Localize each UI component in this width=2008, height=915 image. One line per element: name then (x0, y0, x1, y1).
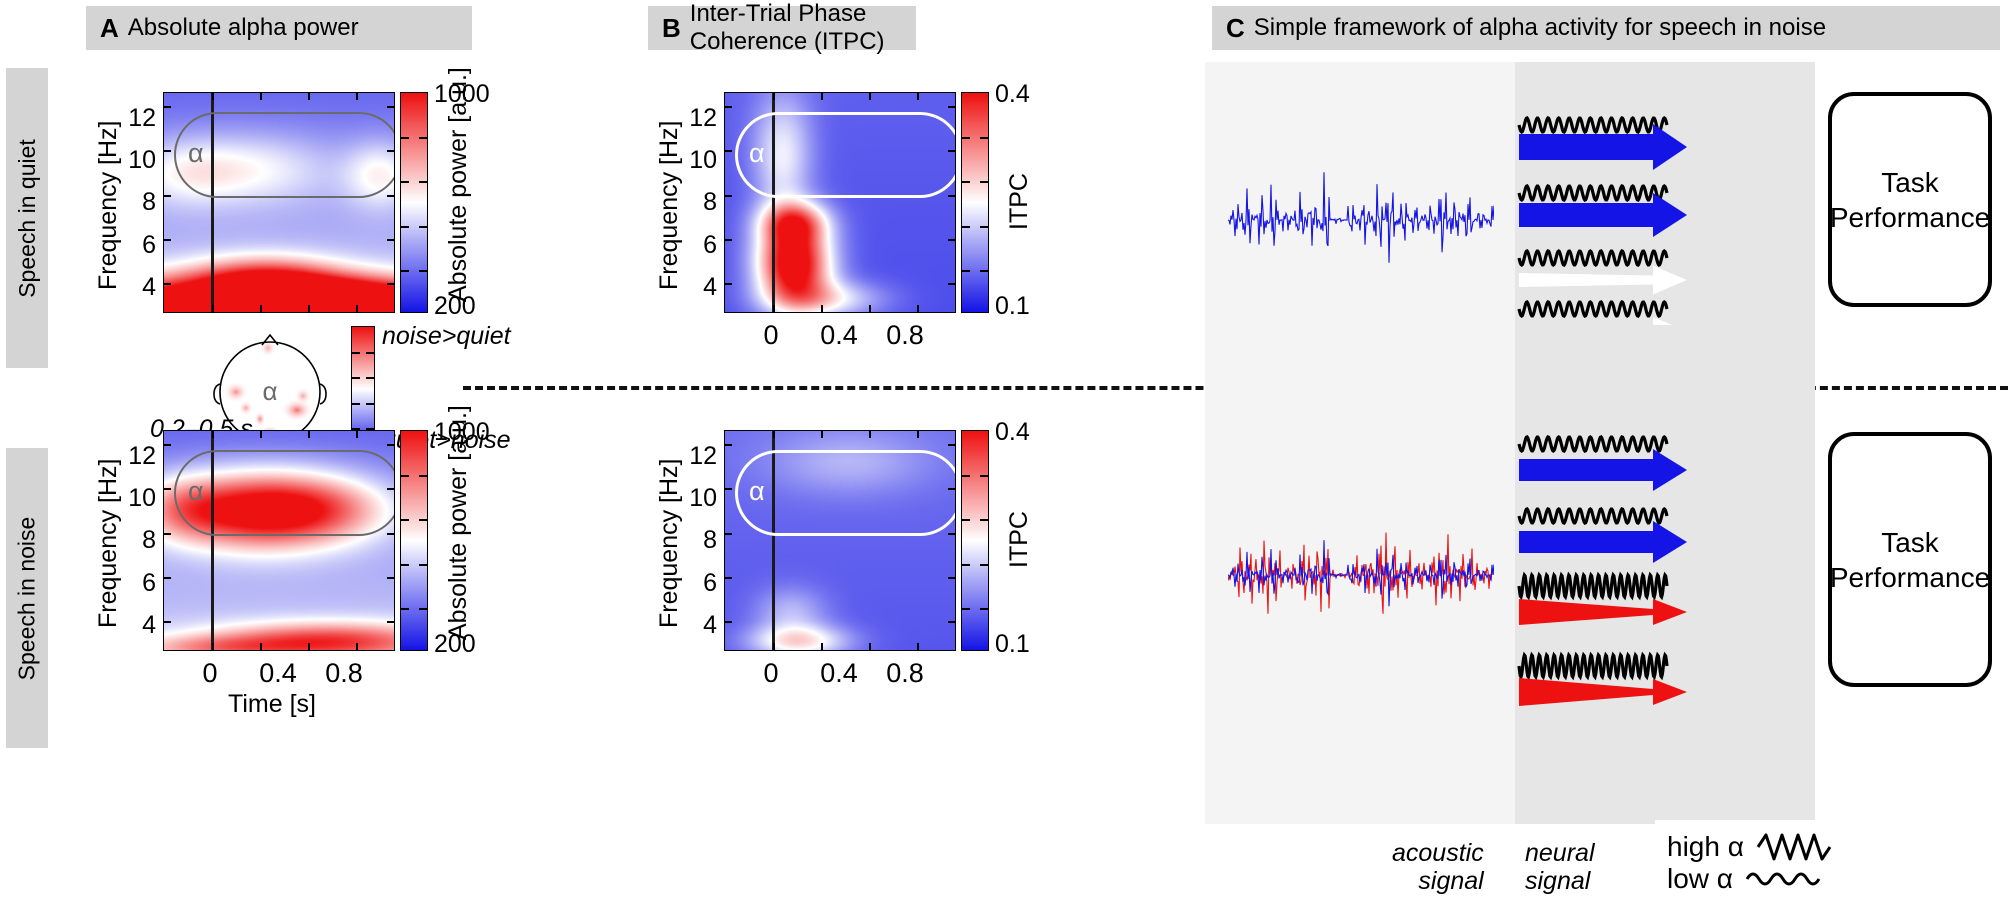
y-tickmark (164, 239, 171, 241)
colorbar-power-noise-title: Absolute power [a.u.] (444, 405, 473, 640)
colorbar-tickmark (962, 226, 970, 228)
y-tickmark (725, 106, 732, 108)
ylabel-a-quiet: Frequency [Hz] (94, 120, 123, 290)
task-performance-box-noise: Task Performance (1828, 432, 1992, 687)
y-tickmark (387, 239, 394, 241)
y-tickmark (948, 577, 955, 579)
colorbar-itpc-quiet (961, 92, 989, 313)
x-tickmark (821, 431, 823, 438)
panel-letter-c: C (1226, 13, 1245, 44)
colorbar-itpc-noise (961, 430, 989, 651)
y-tickmark (387, 106, 394, 108)
xlabel-a-noise: Time [s] (228, 690, 316, 719)
colorbar-tickmark (962, 519, 970, 521)
x-tickmark (773, 431, 775, 438)
xtick-b-quiet-0.8: 0.8 (875, 320, 935, 351)
x-tickmark (773, 305, 775, 312)
colorbar-tickmark (401, 608, 409, 610)
y-tickmark (387, 195, 394, 197)
ylabel-b-quiet: Frequency [Hz] (655, 120, 684, 290)
y-tickmark (164, 195, 171, 197)
panel-header-b: B Inter-Trial Phase Coherence (ITPC) (648, 6, 916, 50)
x-tickmark (212, 93, 214, 100)
colorbar-tickmark (352, 403, 360, 405)
colorbar-tickmark (401, 137, 409, 139)
colorbar-tickmark (980, 137, 988, 139)
x-tickmark (260, 93, 262, 100)
colorbar-tickmark (980, 519, 988, 521)
heatmap-b-noise-canvas (725, 431, 955, 650)
y-tickmark (164, 106, 171, 108)
colorbar-itpc-quiet-canvas (962, 93, 988, 312)
y-tickmark (164, 621, 171, 623)
y-tickmark (948, 239, 955, 241)
colorbar-tickmark (962, 181, 970, 183)
x-tickmark (308, 93, 310, 100)
x-tickmark (212, 305, 214, 312)
x-tickmark (917, 431, 919, 438)
blue-arrow-strong (1519, 449, 1687, 491)
stimulus-onset-line (772, 93, 775, 312)
x-tickmark (260, 431, 262, 438)
colorbar-tickmark (980, 270, 988, 272)
white-arrow-weak (1519, 317, 1687, 325)
low-alpha-wave-icon (1745, 864, 1821, 894)
stimulus-onset-line (211, 93, 214, 312)
red-arrow-tapered (1519, 599, 1687, 625)
x-tickmark (308, 305, 310, 312)
y-tickmark (725, 577, 732, 579)
task-performance-label-quiet: Task Performance (1830, 165, 1990, 235)
task-performance-box-quiet: Task Performance (1828, 92, 1992, 307)
colorbar-power-quiet-canvas (401, 93, 427, 312)
colorbar-tickmark (980, 564, 988, 566)
y-tickmark (725, 283, 732, 285)
colorbar-tickmark (962, 270, 970, 272)
x-tickmark (308, 643, 310, 650)
colorbar-itpc-quiet-title: ITPC (1005, 173, 1034, 230)
colorbar-tickmark (352, 352, 360, 354)
alpha-squiggle (1519, 655, 1667, 677)
footer-neural-signal: neural signal (1525, 840, 1595, 895)
xtick-b-noise-0.4: 0.4 (809, 658, 869, 689)
row-label-speech-in-noise: Speech in noise (6, 448, 48, 748)
xtick-a-noise-0: 0 (190, 658, 230, 689)
y-tickmark (725, 621, 732, 623)
row-label-speech-in-quiet: Speech in quiet (6, 68, 48, 368)
y-tickmark (725, 488, 732, 490)
colorbar-tickmark (962, 564, 970, 566)
alpha-squiggle (1519, 437, 1667, 451)
legend-row-low-alpha: low α (1667, 863, 1833, 895)
y-tickmark (164, 533, 171, 535)
high-alpha-wave-icon (1756, 832, 1832, 862)
x-tickmark (917, 643, 919, 650)
y-tickmark (948, 488, 955, 490)
x-tickmark (356, 93, 358, 100)
x-tickmark (356, 643, 358, 650)
colorbar-tickmark (366, 377, 374, 379)
y-tickmark (948, 106, 955, 108)
colorbar-tickmark (962, 475, 970, 477)
colorbar-tickmark (980, 608, 988, 610)
colorbar-tickmark (419, 519, 427, 521)
neural-arrows-quiet (1515, 95, 1815, 325)
panel-letter-b: B (662, 13, 681, 44)
panel-title-c: Simple framework of alpha activity for s… (1254, 14, 1826, 42)
xtick-b-noise-0: 0 (751, 658, 791, 689)
colorbar-tickmark (419, 475, 427, 477)
colorbar-power-noise (400, 430, 428, 651)
colorbar-tickmark (352, 377, 360, 379)
y-tickmark (164, 283, 171, 285)
x-tickmark (212, 643, 214, 650)
x-tickmark (821, 93, 823, 100)
colorbar-tickmark (419, 181, 427, 183)
neural-arrows-noise (1515, 430, 1815, 840)
y-tickmark (387, 150, 394, 152)
colorbar-itpc-noise-title: ITPC (1005, 511, 1034, 568)
colorbar-power-quiet-title: Absolute power [a.u.] (444, 67, 473, 302)
x-tickmark (917, 305, 919, 312)
y-tickmark (164, 444, 171, 446)
y-tickmark (725, 239, 732, 241)
panel-title-b: Inter-Trial Phase Coherence (ITPC) (690, 0, 916, 56)
colorbar-tickmark (401, 519, 409, 521)
y-tickmark (948, 150, 955, 152)
y-tickmark (164, 577, 171, 579)
alpha-squiggle (1519, 509, 1667, 523)
colorbar-itpc-quiet-max: 0.4 (995, 80, 1030, 109)
colorbar-tickmark (962, 137, 970, 139)
colorbar-tickmark (419, 137, 427, 139)
colorbar-tickmark (962, 608, 970, 610)
heatmap-b-quiet-canvas (725, 93, 955, 312)
ylabel-a-noise: Frequency [Hz] (94, 458, 123, 628)
heatmap-b-noise: α (724, 430, 956, 651)
alpha-symbol: α (188, 478, 204, 505)
y-tickmark (387, 533, 394, 535)
y-tickmark (725, 533, 732, 535)
colorbar-tickmark (980, 475, 988, 477)
panel-header-a: A Absolute alpha power (86, 6, 472, 50)
y-tickmark (725, 195, 732, 197)
colorbar-tickmark (419, 608, 427, 610)
colorbar-power-noise-canvas (401, 431, 427, 650)
colorbar-itpc-noise-canvas (962, 431, 988, 650)
panel-letter-a: A (100, 13, 119, 44)
y-tickmark (387, 283, 394, 285)
x-tickmark (821, 643, 823, 650)
x-tickmark (869, 93, 871, 100)
xtick-b-quiet-0: 0 (751, 320, 791, 351)
speech-trace (1228, 172, 1494, 262)
heatmap-a-noise: α (163, 430, 395, 651)
x-tickmark (773, 93, 775, 100)
alpha-squiggle (1519, 118, 1667, 132)
colorbar-tickmark (401, 270, 409, 272)
xtick-a-noise-0.4: 0.4 (248, 658, 308, 689)
footer-acoustic-signal: acoustic signal (1392, 840, 1484, 895)
colorbar-itpc-noise-max: 0.4 (995, 418, 1030, 447)
colorbar-tickmark (366, 352, 374, 354)
colorbar-tickmark (401, 564, 409, 566)
alpha-symbol: α (749, 140, 765, 167)
row-label-noise-text: Speech in noise (14, 516, 41, 680)
x-tickmark (212, 431, 214, 438)
heatmap-a-noise-canvas (164, 431, 394, 650)
stimulus-onset-line (211, 431, 214, 650)
x-tickmark (869, 643, 871, 650)
y-tickmark (164, 488, 171, 490)
y-tickmark (387, 444, 394, 446)
x-tickmark (773, 643, 775, 650)
panel-title-a: Absolute alpha power (128, 14, 359, 42)
colorbar-tickmark (401, 181, 409, 183)
heatmap-a-quiet: α (163, 92, 395, 313)
acoustic-waveform-quiet (1228, 160, 1494, 280)
colorbar-itpc-quiet-min: 0.1 (995, 292, 1030, 321)
x-tickmark (308, 431, 310, 438)
red-arrow-tapered (1519, 678, 1687, 706)
colorbar-power-quiet (400, 92, 428, 313)
stimulus-onset-line (772, 431, 775, 650)
y-tickmark (725, 150, 732, 152)
acoustic-waveform-noise (1228, 510, 1494, 640)
heatmap-a-quiet-canvas (164, 93, 394, 312)
y-tickmark (725, 444, 732, 446)
white-arrow-weak (1519, 266, 1687, 295)
x-tickmark (356, 305, 358, 312)
x-tickmark (260, 305, 262, 312)
x-tickmark (260, 643, 262, 650)
x-tickmark (917, 93, 919, 100)
colorbar-tickmark (401, 226, 409, 228)
y-tickmark (948, 444, 955, 446)
alpha-squiggle (1519, 302, 1667, 316)
ylabel-b-noise: Frequency [Hz] (655, 458, 684, 628)
colorbar-tickmark (980, 226, 988, 228)
colorbar-tickmark (419, 564, 427, 566)
y-tickmark (387, 577, 394, 579)
y-tickmark (948, 621, 955, 623)
legend-row-high-alpha: high α (1667, 831, 1833, 863)
xtick-b-noise-0.8: 0.8 (875, 658, 935, 689)
x-tickmark (821, 305, 823, 312)
blue-arrow-strong (1519, 521, 1687, 563)
heatmap-b-quiet: α (724, 92, 956, 313)
colorbar-tickmark (419, 226, 427, 228)
y-tickmark (948, 533, 955, 535)
y-tickmark (948, 195, 955, 197)
alpha-legend-box: high α low α (1655, 820, 1845, 906)
panel-header-c: C Simple framework of alpha activity for… (1212, 6, 2000, 50)
svg-text:α: α (262, 376, 277, 406)
alpha-symbol: α (188, 140, 204, 167)
colorbar-topo-max: noise>quiet (382, 322, 511, 351)
x-tickmark (869, 305, 871, 312)
alpha-squiggle (1519, 186, 1667, 200)
colorbar-itpc-noise-min: 0.1 (995, 630, 1030, 659)
row-label-quiet-text: Speech in quiet (14, 139, 41, 298)
xtick-a-noise-0.8: 0.8 (314, 658, 374, 689)
y-tickmark (387, 621, 394, 623)
legend-label-low-alpha: low α (1667, 863, 1733, 895)
x-tickmark (869, 431, 871, 438)
task-performance-label-noise: Task Performance (1830, 525, 1990, 595)
colorbar-tickmark (980, 181, 988, 183)
xtick-b-quiet-0.4: 0.4 (809, 320, 869, 351)
colorbar-tickmark (419, 270, 427, 272)
y-tickmark (948, 283, 955, 285)
y-tickmark (164, 150, 171, 152)
legend-label-high-alpha: high α (1667, 831, 1744, 863)
y-tickmark (387, 488, 394, 490)
alpha-squiggle (1519, 575, 1667, 597)
x-tickmark (356, 431, 358, 438)
colorbar-tickmark (366, 403, 374, 405)
colorbar-tickmark (401, 475, 409, 477)
alpha-squiggle (1519, 251, 1667, 265)
alpha-symbol: α (749, 478, 765, 505)
